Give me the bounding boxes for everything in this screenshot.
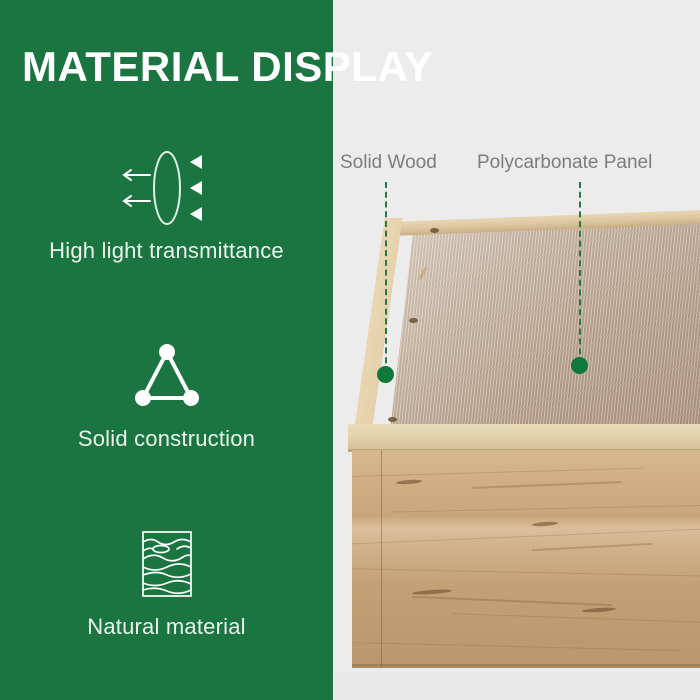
triangle-nodes-icon (0, 330, 333, 422)
light-transmittance-icon (0, 142, 333, 234)
callout-label-solid-wood: Solid Wood (340, 152, 437, 174)
callout-leader-line (385, 182, 387, 373)
feature-caption: Solid construction (0, 426, 333, 452)
poly-pane-sheen (389, 224, 700, 440)
callout-dot (377, 366, 394, 383)
feature-caption: Natural material (0, 614, 333, 640)
box-bottom-shadow (352, 664, 700, 669)
screw-hole (430, 228, 439, 233)
feature-caption: High light transmittance (0, 238, 333, 264)
box-top-board (348, 424, 700, 452)
box-front-panel (352, 450, 700, 668)
callout-dot (571, 357, 588, 374)
box-left-edge (381, 450, 382, 668)
polycarbonate-pane (389, 224, 700, 440)
feature-solid-construction: Solid construction (0, 330, 333, 452)
page-title: MATERIAL DISPLAY (22, 41, 682, 93)
feature-natural-material: Natural material (0, 518, 333, 640)
callout-leader-line (579, 182, 581, 364)
callout-label-polycarbonate-panel: Polycarbonate Panel (477, 152, 652, 174)
wood-grain-icon (0, 518, 333, 610)
feature-high-light-transmittance: High light transmittance (0, 142, 333, 264)
screw-hole (388, 417, 397, 422)
material-display-banner: Solid Wood Polycarbonate Panel MATERIAL … (0, 0, 700, 700)
screw-hole (409, 318, 418, 323)
